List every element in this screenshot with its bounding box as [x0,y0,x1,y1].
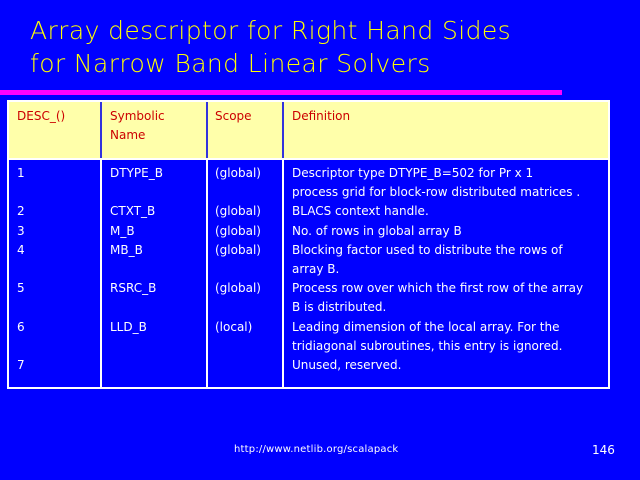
table-cell-line: LLD_B [110,318,205,337]
table-cell-line: process grid for block-row distributed m… [292,183,607,202]
body-column-divider-3 [282,160,284,387]
table-cell-line: (global) [215,241,280,260]
column-symbolic-name: DTYPE_B CTXT_BM_BMB_B RSRC_B LLD_B [110,164,205,375]
table-cell-line: Unused, reserved. [292,356,607,375]
table-cell-line: No. of rows in global array B [292,222,607,241]
table-cell-line: 2 [17,202,99,221]
page-number: 146 [592,443,615,457]
table-cell-line: (global) [215,202,280,221]
table-cell-line: Blocking factor used to distribute the r… [292,241,607,260]
table-cell-line: BLACS context handle. [292,202,607,221]
table-cell-line: Descriptor type DTYPE_B=502 for Pr x 1 [292,164,607,183]
table-body: 1 234 5 6 7 DTYPE_B CTXT_BM_BMB_B RSRC_B… [9,160,608,387]
column-header-desc: DESC_() [17,107,99,126]
table-cell-line: 7 [17,356,99,375]
column-header-definition: Definition [292,107,607,126]
table-cell-line: (global) [215,279,280,298]
header-column-divider-3 [282,102,284,158]
footer-url[interactable]: http://www.netlib.org/scalapack [234,444,398,455]
table-cell-line: 3 [17,222,99,241]
table-cell-line: tridiagonal subroutines, this entry is i… [292,337,607,356]
column-header-scope: Scope [215,107,280,126]
array-descriptor-table: DESC_() Symbolic Name Scope Definition 1… [7,100,610,389]
title-accent-bar [0,90,562,95]
table-cell-line: (global) [215,222,280,241]
header-column-divider-2 [206,102,208,158]
table-cell-line: 5 [17,279,99,298]
table-cell-line: (global) [215,164,280,183]
table-cell-line: RSRC_B [110,279,205,298]
column-scope: (global) (global)(global)(global) (globa… [215,164,280,375]
table-cell-line: Leading dimension of the local array. Fo… [292,318,607,337]
table-cell-line: MB_B [110,241,205,260]
table-cell-line: 4 [17,241,99,260]
table-cell-line: Process row over which the first row of … [292,279,607,298]
table-cell-line: DTYPE_B [110,164,205,183]
table-cell-line: B is distributed. [292,298,607,317]
table-cell-line: 1 [17,164,99,183]
table-header-row: DESC_() Symbolic Name Scope Definition [9,102,608,160]
body-column-divider-1 [100,160,102,387]
body-column-divider-2 [206,160,208,387]
table-cell-line: (local) [215,318,280,337]
header-column-divider-1 [100,102,102,158]
table-cell-line: M_B [110,222,205,241]
column-definition: Descriptor type DTYPE_B=502 for Pr x 1pr… [292,164,607,375]
page-title: Array descriptor for Right Hand Sides fo… [30,14,610,80]
table-cell-line: 6 [17,318,99,337]
table-cell-line: CTXT_B [110,202,205,221]
column-header-symbolic-name: Symbolic Name [110,107,205,145]
column-desc: 1 234 5 6 7 [17,164,99,375]
table-cell-line: array B. [292,260,607,279]
